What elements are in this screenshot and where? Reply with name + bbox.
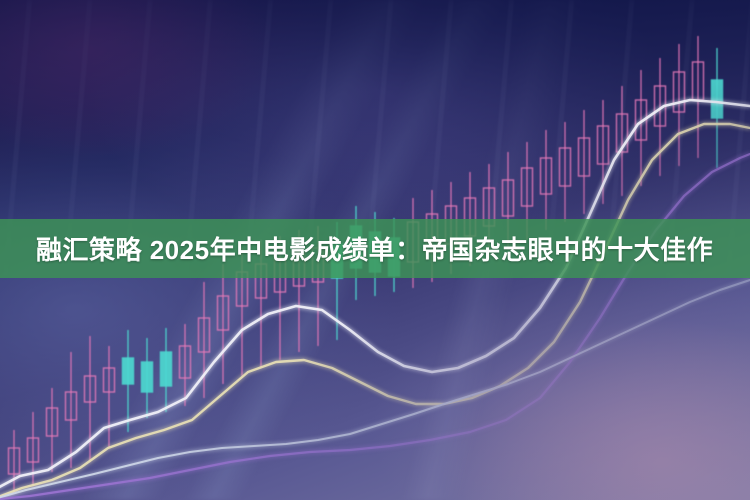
screenshot-root: 融汇策略 2025年中电影成绩单：帝国杂志眼中的十大佳作 (0, 0, 750, 500)
banner-title-text: 融汇策略 2025年中电影成绩单：帝国杂志眼中的十大佳作 (36, 230, 713, 267)
title-banner: 融汇策略 2025年中电影成绩单：帝国杂志眼中的十大佳作 (0, 219, 750, 278)
